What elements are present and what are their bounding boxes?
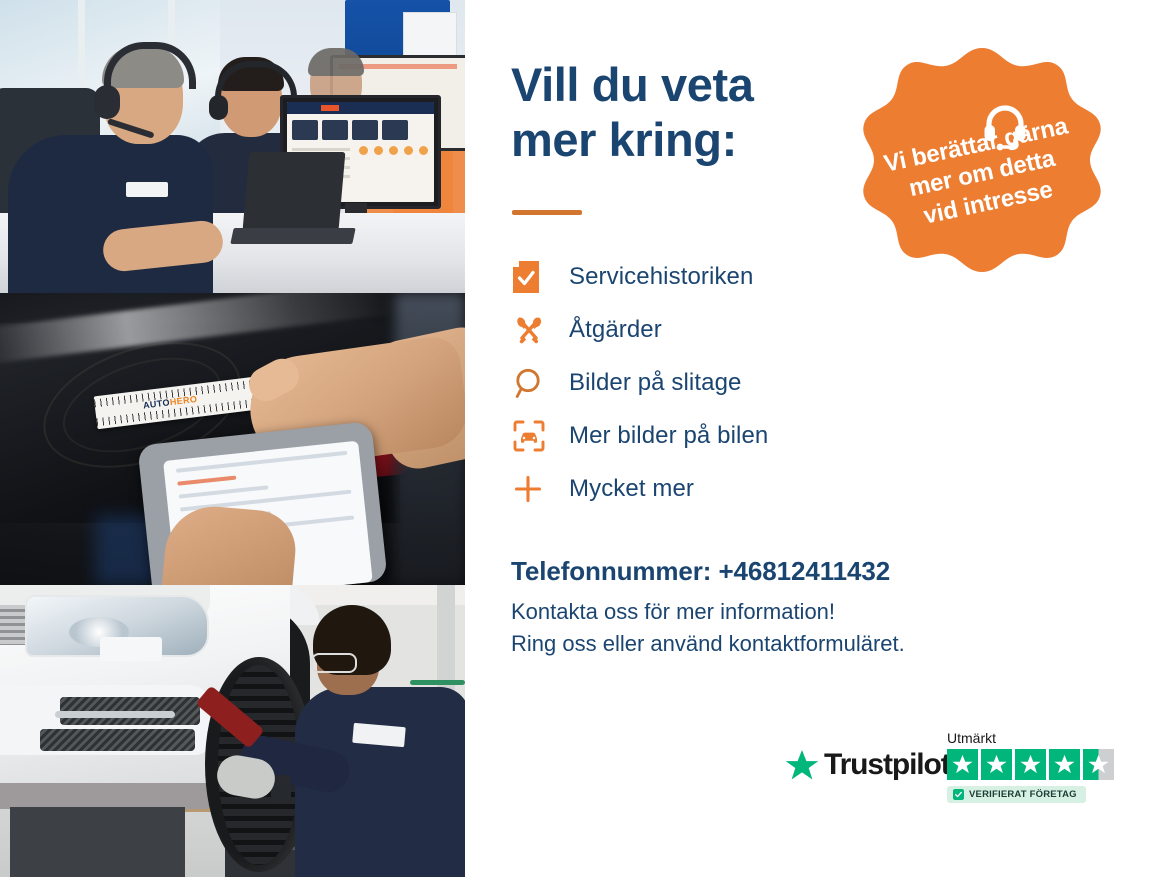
photo1-agent-1-torso — [8, 135, 213, 293]
photo1-screen-icon — [374, 146, 383, 155]
page-title: Vill du veta mer kring: — [511, 57, 841, 168]
photo1-screen-card — [292, 120, 318, 140]
promo-page: AUTOHERO — [0, 0, 1170, 877]
photo1-laptop — [232, 152, 352, 244]
car-paint-inspection-photo: AUTOHERO — [0, 293, 465, 585]
page-title-line-1: Vill du veta — [511, 57, 841, 112]
photo1-screen-card-row — [292, 120, 408, 140]
feature-label: Mer bilder på bilen — [569, 422, 768, 450]
contact-text-line-1: Kontakta oss för mer information! — [511, 596, 1031, 628]
phone-number[interactable]: Telefonnummer: +46812411432 — [511, 556, 1031, 587]
workshop-tyre-change-photo — [0, 585, 465, 877]
photo1-screen-icon — [419, 146, 428, 155]
feature-label: Bilder på slitage — [569, 369, 741, 397]
trustpilot-rating-block: Utmärkt — [947, 730, 1122, 805]
photo1-agent-1 — [8, 30, 223, 293]
photo3-technician-glasses — [311, 653, 357, 673]
trustpilot-star-rating — [947, 749, 1122, 780]
photo1-screen-icon — [359, 146, 368, 155]
feature-item-mycket-mer: Mycket mer — [510, 462, 930, 515]
photo3-licence-plate-area — [100, 637, 162, 661]
magnifier-icon — [510, 367, 569, 399]
photo1-screen-text-row — [292, 148, 350, 151]
photo3-lift-base — [10, 807, 185, 877]
photo1-laptop-lid — [243, 152, 346, 230]
photo1-screen-card — [322, 120, 348, 140]
ruler-brand-hero: HERO — [169, 394, 198, 407]
rating-star-filled — [981, 749, 1012, 780]
rating-star-half — [1083, 749, 1114, 780]
ruler-brand-auto: AUTO — [142, 397, 170, 410]
photo2-tablet-row — [177, 476, 236, 486]
content-column: Vill du veta mer kring: Servicehistorike… — [465, 0, 1170, 877]
wrench-screwdriver-icon — [510, 314, 569, 346]
feature-label: Åtgärder — [569, 316, 662, 344]
call-center-agents-photo — [0, 0, 465, 293]
photo1-agent-3-hair — [308, 48, 364, 76]
photo1-screen-card — [352, 120, 378, 140]
contact-block: Telefonnummer: +46812411432 Kontakta oss… — [511, 556, 1031, 660]
feature-item-mer-bilder-pa-bilen: Mer bilder på bilen — [510, 409, 930, 462]
photo1-screen-navbar — [287, 102, 434, 114]
photo-column: AUTOHERO — [0, 0, 465, 877]
photo3-bumper-mesh — [40, 729, 195, 751]
trustpilot-logo: Trustpilot — [785, 748, 950, 782]
trustpilot-star-icon — [785, 749, 819, 782]
photo1-agent-1-headset-band — [104, 42, 196, 89]
photo1-screen-icon — [389, 146, 398, 155]
feature-label: Mycket mer — [569, 475, 694, 503]
photo1-laptop-keyboard — [230, 228, 355, 244]
photo1-agent-1-name-badge — [126, 182, 168, 197]
photo1-screen-icon — [404, 146, 413, 155]
checklist-document-icon — [510, 261, 569, 293]
rating-star-filled — [947, 749, 978, 780]
rating-star-filled — [1015, 749, 1046, 780]
feature-item-bilder-pa-slitage: Bilder på slitage — [510, 356, 930, 409]
photo1-agent-1-headset-cup — [94, 85, 120, 119]
feature-item-atgarder: Åtgärder — [510, 303, 930, 356]
callback-badge: Vi berättar gärna mer om detta vid intre… — [859, 44, 1106, 306]
photo2-tablet-row — [176, 451, 347, 473]
trustpilot-rating-label: Utmärkt — [947, 730, 1122, 746]
contact-text-line-2: Ring oss eller använd kontaktformuläret. — [511, 628, 1031, 660]
plus-icon — [510, 474, 569, 504]
contact-text: Kontakta oss för mer information! Ring o… — [511, 596, 1031, 660]
title-divider — [512, 210, 582, 215]
trustpilot-widget[interactable]: Trustpilot Utmärkt — [785, 730, 1130, 820]
photo1-screen-card — [382, 120, 408, 140]
photo2-tablet-row — [179, 485, 269, 498]
car-scan-icon — [510, 420, 569, 452]
page-title-line-2: mer kring: — [511, 112, 841, 167]
feature-label: Servicehistoriken — [569, 263, 753, 291]
check-badge-icon — [953, 789, 964, 800]
trustpilot-wordmark: Trustpilot — [824, 748, 950, 782]
photo1-screen-icon-row — [359, 146, 428, 155]
photo3-chrome-trim — [55, 711, 175, 718]
photo3-technician — [295, 605, 465, 877]
photo3-lift-arm — [0, 783, 210, 809]
verified-company-label: VERIFIERAT FÖRETAG — [969, 789, 1077, 800]
rating-star-filled — [1049, 749, 1080, 780]
verified-company-badge: VERIFIERAT FÖRETAG — [947, 786, 1086, 803]
